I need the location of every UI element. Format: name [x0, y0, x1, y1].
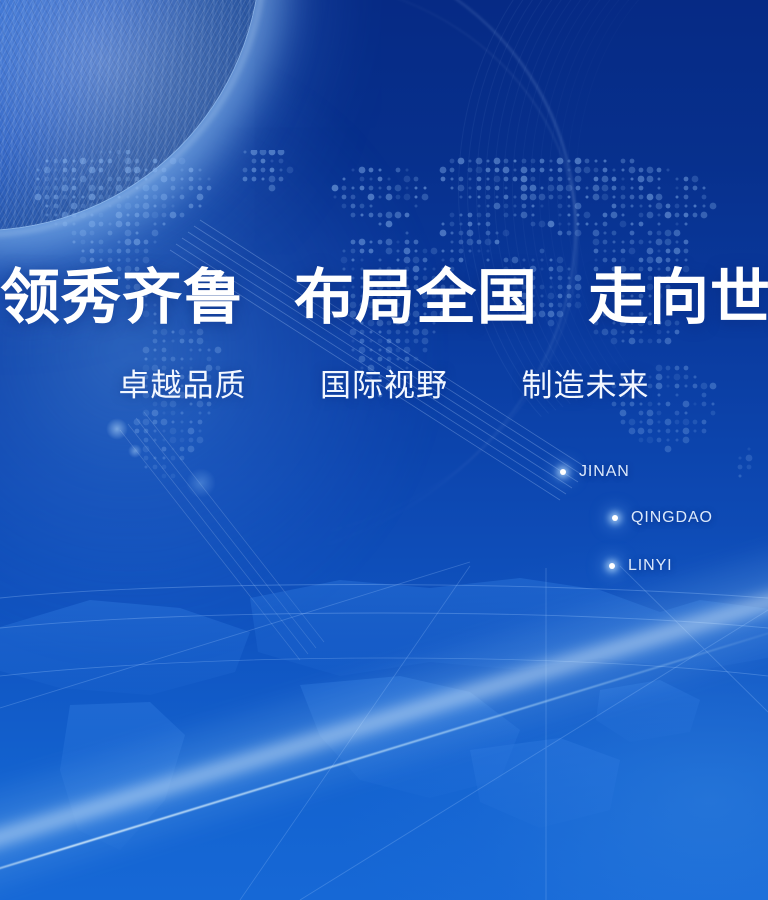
city-label-jinan: JINAN [579, 463, 630, 481]
page-subtitle: 卓越品质 国际视野 制造未来 [0, 368, 768, 404]
city-label-qingdao: QINGDAO [631, 509, 713, 527]
subtitle-part-3: 制造未来 [522, 368, 650, 403]
headline-part-2: 布局全国 [294, 265, 538, 331]
headline-part-1: 领秀齐鲁 [0, 265, 244, 331]
hero-banner: 领秀齐鲁 布局全国 走向世界 卓越品质 国际视野 制造未来 JINAN QING… [0, 0, 768, 900]
subtitle-part-1: 卓越品质 [119, 368, 247, 403]
page-title: 领秀齐鲁 布局全国 走向世界 [0, 266, 768, 330]
bokeh-dot [128, 444, 142, 458]
ambient-glow-center [330, 520, 768, 900]
headline-part-3: 走向世界 [588, 265, 768, 331]
bokeh-dot [106, 418, 128, 440]
light-beam-core [0, 618, 768, 900]
city-dot-icon [560, 469, 566, 475]
perspective-landmass [0, 578, 768, 850]
city-label-linyi: LINYI [628, 557, 673, 575]
globe-highlight [0, 0, 260, 230]
perspective-world-map [0, 480, 768, 900]
city-dot-icon [612, 515, 618, 521]
city-dot-icon [609, 563, 615, 569]
city-marker-jinan[interactable]: JINAN [560, 463, 630, 481]
curved-arc-lines [458, 0, 768, 500]
subtitle-part-2: 国际视野 [320, 368, 448, 403]
city-marker-linyi[interactable]: LINYI [609, 557, 673, 575]
globe-earth-graphic [0, 0, 260, 230]
city-marker-qingdao[interactable]: QINGDAO [612, 509, 713, 527]
bokeh-dot [186, 468, 216, 498]
